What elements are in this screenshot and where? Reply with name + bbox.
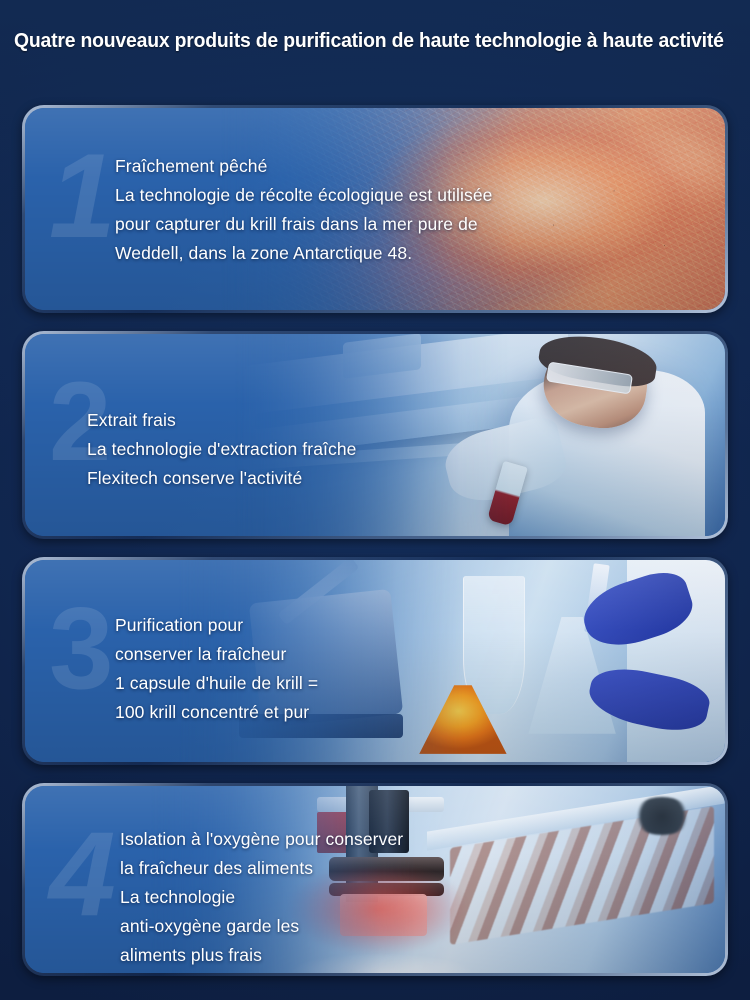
feature-card-4[interactable]: 4 Isolation à l'oxygène pour conserver l… bbox=[22, 783, 728, 976]
feature-card-1-inner: 1 Fraîchement pêché La technologie de ré… bbox=[25, 108, 725, 310]
card-4-line-2: la fraîcheur des aliments bbox=[120, 854, 403, 883]
card-2-line-3: Flexitech conserve l'activité bbox=[87, 464, 357, 493]
feature-card-3-inner: 3 Purification pour conserver la fraîche… bbox=[25, 560, 725, 762]
card-1-line-1: Fraîchement pêché bbox=[115, 152, 493, 181]
card-3-text: Purification pour conserver la fraîcheur… bbox=[115, 611, 318, 727]
card-3-line-1: Purification pour bbox=[115, 611, 318, 640]
card-1-line-4: Weddell, dans la zone Antarctique 48. bbox=[115, 239, 493, 268]
card-1-line-2: La technologie de récolte écologique est… bbox=[115, 181, 493, 210]
card-2-line-2: La technologie d'extraction fraîche bbox=[87, 435, 357, 464]
card-4-number-watermark: 4 bbox=[49, 814, 112, 934]
feature-card-3[interactable]: 3 Purification pour conserver la fraîche… bbox=[22, 557, 728, 765]
card-1-number-watermark: 1 bbox=[49, 136, 112, 256]
card-3-number-watermark: 3 bbox=[49, 590, 110, 706]
infographic-page: Quatre nouveaux produits de purification… bbox=[0, 0, 750, 1000]
card-4-line-3: La technologie bbox=[120, 883, 403, 912]
card-4-text: Isolation à l'oxygène pour conserver la … bbox=[120, 825, 403, 970]
card-2-line-1: Extrait frais bbox=[87, 406, 357, 435]
card-4-line-5: aliments plus frais bbox=[120, 941, 403, 970]
card-3-line-4: 100 krill concentré et pur bbox=[115, 698, 318, 727]
card-3-line-2: conserver la fraîcheur bbox=[115, 640, 318, 669]
feature-card-2-inner: 2 Extrait frais La technologie d'extract… bbox=[25, 334, 725, 536]
page-title: Quatre nouveaux produits de purification… bbox=[14, 29, 700, 53]
card-4-line-1: Isolation à l'oxygène pour conserver bbox=[120, 825, 403, 854]
feature-card-2[interactable]: 2 Extrait frais La technologie d'extract… bbox=[22, 331, 728, 539]
card-2-text: Extrait frais La technologie d'extractio… bbox=[87, 406, 357, 493]
feature-card-4-inner: 4 Isolation à l'oxygène pour conserver l… bbox=[25, 786, 725, 973]
page-header: Quatre nouveaux produits de purification… bbox=[0, 0, 750, 88]
feature-card-1[interactable]: 1 Fraîchement pêché La technologie de ré… bbox=[22, 105, 728, 313]
card-1-text: Fraîchement pêché La technologie de réco… bbox=[115, 152, 493, 268]
card-3-line-3: 1 capsule d'huile de krill = bbox=[115, 669, 318, 698]
card-4-line-4: anti-oxygène garde les bbox=[120, 912, 403, 941]
card-1-line-3: pour capturer du krill frais dans la mer… bbox=[115, 210, 493, 239]
